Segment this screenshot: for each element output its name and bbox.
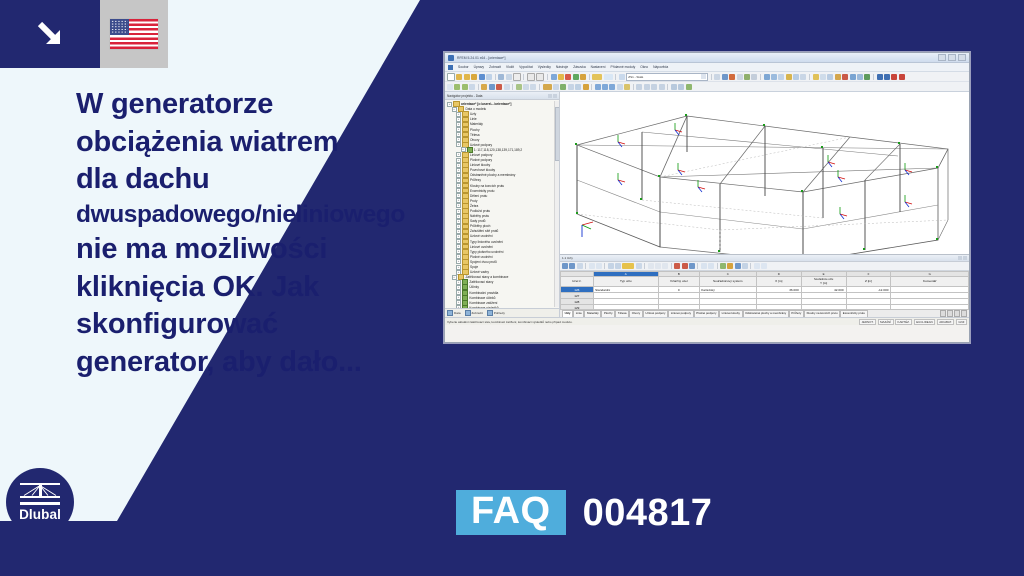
numbering-icon[interactable] <box>636 84 642 90</box>
toolbar-separator <box>495 74 496 80</box>
tab-next-icon[interactable] <box>954 310 960 317</box>
labels-icon[interactable] <box>644 84 650 90</box>
save-icon[interactable] <box>479 74 485 80</box>
menu-item-zasuvka[interactable]: Zásuvka <box>573 65 585 69</box>
column-header[interactable]: Z [m] <box>846 277 891 287</box>
member-tool-icon[interactable] <box>516 84 522 90</box>
column-header[interactable]: Souřadnicový systém <box>699 277 756 287</box>
main-toolbar[interactable]: ZS1 - Stálé <box>445 72 969 82</box>
tree-item-label: Žebra <box>470 204 478 208</box>
table-settings-icon[interactable] <box>735 263 741 269</box>
table-tab[interactable]: Průřezy <box>789 310 804 317</box>
table-copy-icon[interactable] <box>596 263 602 269</box>
menu-item-vysledky[interactable]: Výsledky <box>538 65 551 69</box>
tree-item-label: Povrchové klouby <box>470 168 495 172</box>
scrollbar-thumb[interactable] <box>555 107 560 161</box>
module-icon[interactable] <box>877 74 883 80</box>
info-icon[interactable] <box>899 74 905 80</box>
open-file-icon[interactable] <box>456 74 462 80</box>
headline-line: W generatorze <box>76 86 436 124</box>
menu-item-zobrazit[interactable]: Zobrazit <box>489 65 501 69</box>
toolbar-separator <box>547 74 548 80</box>
tree-item-label: Plošné podpory <box>470 158 492 162</box>
tree-item-label: Zatěžovací stavy a kombinace <box>465 275 508 279</box>
tree-item-label: Odstraněné plochy a membrány <box>470 173 515 177</box>
tree-item-label: Liniové podpory <box>470 153 493 157</box>
minimize-icon[interactable] <box>938 54 946 61</box>
redo-icon[interactable] <box>558 74 564 80</box>
headline-line: dwuspadowego/nieliniowego <box>76 199 436 231</box>
calculate-all-icon[interactable] <box>560 84 566 90</box>
table-search-icon[interactable] <box>754 263 760 269</box>
table-tab[interactable]: Linie <box>573 310 584 317</box>
navigator-title: Navigátor projektu - Data <box>447 94 482 98</box>
visibility-icon[interactable] <box>678 84 684 90</box>
view-front-icon[interactable] <box>595 84 601 90</box>
table-clear-icon[interactable] <box>674 263 680 269</box>
navigator-tabs[interactable]: Data Zobrazit Pohledy <box>445 308 559 317</box>
calculate-icon[interactable] <box>573 74 579 80</box>
table-check-icon[interactable] <box>720 263 726 269</box>
rib-tool-icon[interactable] <box>530 84 536 90</box>
table-highlight-icon[interactable] <box>622 263 634 269</box>
navigator-tree[interactable]: +orientace* [c:\users\...\orientace*]+Da… <box>445 100 559 308</box>
layer-icon[interactable] <box>813 74 819 80</box>
toolbar-separator <box>717 263 718 269</box>
table-tab[interactable]: Tělesa <box>615 310 629 317</box>
stop-icon[interactable] <box>737 74 743 80</box>
pin-icon[interactable] <box>958 256 962 260</box>
table-select-icon[interactable] <box>701 263 707 269</box>
table-first-icon[interactable] <box>608 263 614 269</box>
toolbar-separator <box>667 84 668 90</box>
zoom-out-icon[interactable] <box>771 74 777 80</box>
dimension-icon[interactable] <box>835 74 841 80</box>
tree-item-label: Spoje <box>470 265 478 269</box>
table-insert-icon[interactable] <box>569 263 575 269</box>
headline-line: obciążenia wiatrem <box>76 124 436 162</box>
toolbar-separator <box>873 74 874 80</box>
tree-expander-icon[interactable]: + <box>456 305 461 308</box>
rotate-icon[interactable] <box>786 74 792 80</box>
tree-item-label: Spojení dvou prutů <box>470 260 497 264</box>
view-persp-icon[interactable] <box>624 84 630 90</box>
menu-item-vypocitat[interactable]: Vypočítat <box>519 65 533 69</box>
column-header[interactable]: Komentář <box>891 277 969 287</box>
table-undo-icon[interactable] <box>636 263 642 269</box>
table-export-icon[interactable] <box>727 263 733 269</box>
menu-item-nastroje[interactable]: Nástroje <box>556 65 568 69</box>
table-prev-icon[interactable] <box>615 263 621 269</box>
status-cell: JEDNOT. <box>859 319 876 325</box>
mesh-tool-icon[interactable] <box>553 84 559 90</box>
tree-leaf-icon <box>462 305 468 308</box>
navigator-tab-zobrazit[interactable]: Zobrazit <box>465 310 483 316</box>
table-edit-icon[interactable] <box>562 263 568 269</box>
window-controls[interactable] <box>938 54 966 61</box>
select-icon[interactable] <box>447 84 453 90</box>
new-file-icon[interactable] <box>447 73 455 81</box>
data-tab-icon <box>447 310 453 316</box>
table-tab[interactable]: Uzly <box>562 310 573 317</box>
status-cell: KARTÉZ. <box>895 319 912 325</box>
display-tool-icon[interactable] <box>568 84 574 90</box>
navigator-header: Navigátor projektu - Data <box>445 92 559 100</box>
zoom-in-icon[interactable] <box>764 74 770 80</box>
app-icon <box>448 55 454 61</box>
load-case-value: ZS1 - Stálé <box>628 75 643 79</box>
undo-icon[interactable] <box>551 74 557 80</box>
colors-icon[interactable] <box>659 84 665 90</box>
table-tool-icon[interactable] <box>575 84 581 90</box>
tree-item-label: Linie <box>470 117 477 121</box>
table-panel-header: 1.1 Uzly <box>560 255 969 262</box>
secondary-toolbar[interactable] <box>445 82 969 92</box>
truss-bridge-icon <box>20 483 60 505</box>
dlubal-logo: Dlubal <box>6 468 74 536</box>
column-header[interactable]: Uzel č. <box>561 277 594 287</box>
flag-panel <box>100 0 168 68</box>
status-bar: Vyberte aktuální zatěžovací stav, kombin… <box>445 317 969 325</box>
tree-item-label: Uzlové uvolnění <box>470 234 493 238</box>
views-tab-icon <box>487 310 493 316</box>
addon-icon[interactable] <box>884 74 890 80</box>
toolbar-separator <box>615 74 616 80</box>
filter-icon[interactable] <box>671 84 677 90</box>
opening-tool-icon[interactable] <box>496 84 502 90</box>
apply-icon[interactable] <box>686 84 692 90</box>
menu-item-upravy[interactable]: Úpravy <box>474 65 484 69</box>
maximize-icon[interactable] <box>948 54 956 61</box>
table-tab[interactable]: Odstraněné plochy a membrány <box>743 310 789 317</box>
solid-tool-icon[interactable] <box>489 84 495 90</box>
tree-item-label: Průběhy ploch <box>470 224 490 228</box>
tree-item-label: Sady prutů <box>470 219 485 223</box>
load-case-icon[interactable] <box>619 74 625 80</box>
tree-item-label: Pruty <box>470 199 477 203</box>
status-cell: MAZÁNÍ <box>878 319 894 325</box>
toolbar-separator <box>671 263 672 269</box>
headline-line: dla dachu <box>76 161 436 199</box>
tree-item-label: Typy liniového uvolnění <box>470 240 503 244</box>
results-icon[interactable] <box>580 74 586 80</box>
toolbar-separator <box>478 84 479 90</box>
menu-bar[interactable]: Soubor Úpravy Zobrazit Vložit Vypočítat … <box>445 63 969 72</box>
global-axis-triad <box>582 222 593 237</box>
close-icon[interactable] <box>553 94 557 98</box>
load-tool-icon[interactable] <box>543 84 552 90</box>
app-menu-icon[interactable] <box>448 65 453 70</box>
check-icon[interactable] <box>864 74 870 80</box>
tree-item[interactable]: +Kombinace výsledků <box>447 305 559 308</box>
light-icon[interactable] <box>850 74 856 80</box>
table-title: 1.1 Uzly <box>562 256 573 260</box>
menu-item-vlozit[interactable]: Vložit <box>506 65 514 69</box>
navigator-scrollbar[interactable] <box>554 101 559 307</box>
toolbar-separator <box>633 84 634 90</box>
tree-item-label: Průřezy <box>470 178 481 182</box>
zoom-fit-icon[interactable] <box>778 74 784 80</box>
copy-icon[interactable] <box>527 73 535 81</box>
headline-line: nie ma możliwości <box>76 231 436 269</box>
view-top-icon[interactable] <box>602 84 608 90</box>
chevron-down-icon[interactable] <box>701 74 706 79</box>
toolbar-separator <box>591 84 592 90</box>
toolbar-separator <box>760 74 761 80</box>
faq-number: 004817 <box>583 494 713 532</box>
table-tab[interactable]: Excentricity prutu <box>840 310 867 317</box>
column-header[interactable]: Typ uzlu <box>593 277 658 287</box>
tree-item-label: Liniové klouby <box>470 163 490 167</box>
render-icon[interactable] <box>592 74 602 80</box>
column-header[interactable]: Souřadnice uzluY [m] <box>801 277 846 287</box>
tree-item-label: Kombinace zatížení <box>469 301 497 305</box>
tree-item-label: Plochy <box>470 128 480 132</box>
headline-line: kliknięcia OK. Jak <box>76 269 436 307</box>
status-cells: JEDNOT.MAZÁNÍKARTÉZ.EUCLIDEANADIABAT.GNF <box>859 319 967 325</box>
tree-item-label: Kombinace účinků <box>469 296 495 300</box>
next-icon[interactable] <box>722 74 728 80</box>
surface-tool-icon[interactable] <box>481 84 487 90</box>
view-side-icon[interactable] <box>609 84 615 90</box>
toolbar-separator <box>512 84 513 90</box>
tree-item-label: Uzlové podpory <box>470 143 492 147</box>
tree-item-label: 1: 117,118,120,138,139,171,189,2 <box>474 148 522 152</box>
tree-item-label: Tělesa <box>470 133 480 137</box>
model-wireframe <box>560 92 969 254</box>
project-navigator[interactable]: Navigátor projektu - Data +orientace* [c… <box>445 92 560 317</box>
hinge-tool-icon[interactable] <box>523 84 529 90</box>
tree-item-label: Podložci prutu <box>470 209 490 213</box>
model-canvas-3d[interactable] <box>560 92 969 254</box>
table-cut-icon[interactable] <box>589 263 595 269</box>
workspace: 1.1 Uzly <box>560 92 969 317</box>
table-tab[interactable]: Materiály <box>584 310 601 317</box>
table-group-icon[interactable] <box>662 263 668 269</box>
tree-item-label: Účinky <box>469 285 479 289</box>
us-flag-icon <box>110 19 158 49</box>
tree-item-label: Náběhy prutu <box>470 214 489 218</box>
shadow-icon[interactable] <box>857 74 863 80</box>
tree-item-label: Typy plošného uvolnění <box>470 250 504 254</box>
open-recent-icon[interactable] <box>464 74 470 80</box>
table-remove-icon[interactable] <box>682 263 688 269</box>
table-tab[interactable]: Liniové podpory <box>668 310 694 317</box>
tree-item-label: Dělení prutu <box>470 194 487 198</box>
display-tab-icon <box>465 310 471 316</box>
table-sort-icon[interactable] <box>648 263 654 269</box>
faq-block: FAQ 004817 <box>456 490 712 535</box>
tree-item-label: orientace* [c:\users\...\orientace*] <box>461 102 512 106</box>
tree-item-label: Materiály <box>470 122 483 126</box>
table-help-icon[interactable] <box>761 263 767 269</box>
window-title: RFEM 5.24.01 x64 - [orientace*] <box>457 56 505 60</box>
support-tool-icon[interactable] <box>504 84 510 90</box>
toolbar-separator <box>711 74 712 80</box>
table-add-icon[interactable] <box>689 263 695 269</box>
delete-icon[interactable] <box>565 74 571 80</box>
node-tool-icon[interactable] <box>454 84 460 90</box>
prev-icon[interactable] <box>714 74 720 80</box>
tree-item-label: Kombinační pravidla <box>469 291 498 295</box>
tree-item-label: Excentricity prutu <box>470 189 494 193</box>
tree-item-label: Plošné uvolnění <box>470 255 493 259</box>
faq-badge: FAQ <box>456 490 566 535</box>
section-icon[interactable] <box>842 74 848 80</box>
toolbar-separator <box>539 84 540 90</box>
arrow-down-right-icon <box>0 0 100 68</box>
help-icon[interactable] <box>891 74 897 80</box>
line-tool-icon[interactable] <box>462 84 468 90</box>
table-tab[interactable]: Plochy <box>601 310 615 317</box>
table-header-row: Uzel č.Typ uzluVztažný uzelSouřadnicový … <box>561 277 969 287</box>
toolbar-separator <box>604 263 605 269</box>
view-mode-icon[interactable] <box>604 74 613 80</box>
column-header[interactable]: X [m] <box>756 277 801 287</box>
toolbar-separator <box>697 263 698 269</box>
tabstrip-arrows[interactable] <box>940 310 967 317</box>
tree-item-label: Otvory <box>470 138 479 142</box>
save-all-icon[interactable] <box>486 74 492 80</box>
grid-icon[interactable] <box>820 74 826 80</box>
status-cell: ADIABAT. <box>937 319 955 325</box>
tree-item-label: Zahuštění sítě prutů <box>470 229 498 233</box>
paste-icon[interactable] <box>536 73 544 81</box>
app-body: Navigátor projektu - Data +orientace* [c… <box>445 92 969 317</box>
status-cell: GNF <box>956 319 967 325</box>
table-tab[interactable]: Uzlové podpory <box>643 310 668 317</box>
print-icon[interactable] <box>498 74 504 80</box>
tab-prev-icon[interactable] <box>947 310 953 317</box>
dlubal-wordmark: Dlubal <box>19 507 61 522</box>
headline-line: skonfigurować <box>76 306 436 344</box>
table-print-icon[interactable] <box>742 263 748 269</box>
pan-icon[interactable] <box>793 74 799 80</box>
toolbar-separator <box>589 74 590 80</box>
table-tabstrip[interactable]: UzlyLinieMateriályPlochyTělesaOtvoryUzlo… <box>560 309 969 317</box>
page-title: W generatorze obciążenia wiatrem dla dac… <box>76 86 436 382</box>
status-cell: EUCLIDEAN <box>914 319 936 325</box>
pin-icon[interactable] <box>548 94 552 98</box>
cut-icon[interactable] <box>513 73 521 81</box>
screenshot-canvas: W generatorze obciążenia wiatrem dla dac… <box>0 0 1024 576</box>
column-header[interactable]: Vztažný uzel <box>658 277 699 287</box>
window-titlebar: RFEM 5.24.01 x64 - [orientace*] <box>445 53 969 63</box>
navigator-panel-controls[interactable] <box>548 94 558 98</box>
graph-icon[interactable] <box>744 74 750 80</box>
close-icon[interactable] <box>963 256 967 260</box>
status-text: Vyberte aktuální zatěžovací stav, kombin… <box>447 320 572 324</box>
table-panel-controls[interactable] <box>958 256 968 260</box>
toolbar-separator <box>644 263 645 269</box>
toolbar-separator <box>750 263 751 269</box>
close-icon[interactable] <box>958 54 966 61</box>
navigator-tab-data[interactable]: Data <box>447 310 461 316</box>
toolbar-separator <box>523 74 524 80</box>
tree-item-label: Liniové uvolnění <box>470 245 493 249</box>
arc-tool-icon[interactable] <box>469 84 475 90</box>
tab-last-icon[interactable] <box>961 310 967 317</box>
view-iso-icon[interactable] <box>617 84 623 90</box>
table-tab[interactable]: Liniové klouby <box>719 310 743 317</box>
tree-item-label: Klouby na koncích prutu <box>470 184 504 188</box>
tree-item-label: Uzly <box>470 112 476 116</box>
load-case-select[interactable]: ZS1 - Stálé <box>626 73 708 81</box>
headline-line: generator, aby dało... <box>76 344 436 382</box>
import-icon[interactable] <box>471 74 477 80</box>
menu-item-napoveda[interactable]: Nápověda <box>653 65 668 69</box>
symbols-icon[interactable] <box>651 84 657 90</box>
menu-item-okno[interactable]: Okno <box>640 65 648 69</box>
menu-item-nastaveni[interactable]: Nastavení <box>591 65 606 69</box>
table-toolbar[interactable] <box>560 262 969 271</box>
toolbar-separator <box>585 263 586 269</box>
app-screenshot: RFEM 5.24.01 x64 - [orientace*] Soubor Ú… <box>444 52 970 343</box>
measure-icon[interactable] <box>751 74 757 80</box>
run-icon[interactable] <box>729 74 735 80</box>
table-filter-icon[interactable] <box>655 263 661 269</box>
table-tab[interactable]: Otvory <box>629 310 643 317</box>
node-table[interactable]: ABCDEFGUzel č.Typ uzluVztažný uzelSouřad… <box>560 271 969 309</box>
report-tool-icon[interactable] <box>583 84 589 90</box>
tree-item-label: Uzlové vazby <box>470 270 489 274</box>
table-tab[interactable]: Klouby na koncích prutu <box>804 310 840 317</box>
menu-item-soubor[interactable]: Soubor <box>458 65 469 69</box>
navigator-tab-pohledy[interactable]: Pohledy <box>487 310 505 316</box>
table-delete-icon[interactable] <box>577 263 583 269</box>
tree-item-label: Zatěžovací stavy <box>469 280 493 284</box>
menu-item-pridavne-moduly[interactable]: Přídavné moduly <box>611 65 636 69</box>
print-preview-icon[interactable] <box>506 74 512 80</box>
wireframe-icon[interactable] <box>800 74 806 80</box>
tree-item-label: Kombinace výsledků <box>469 306 498 308</box>
table-view-icon[interactable] <box>708 263 714 269</box>
table-tab[interactable]: Plošné podpory <box>694 310 719 317</box>
snap-icon[interactable] <box>827 74 833 80</box>
toolbar-separator <box>809 74 810 80</box>
table-panel: 1.1 Uzly <box>560 254 969 317</box>
tab-first-icon[interactable] <box>940 310 946 317</box>
